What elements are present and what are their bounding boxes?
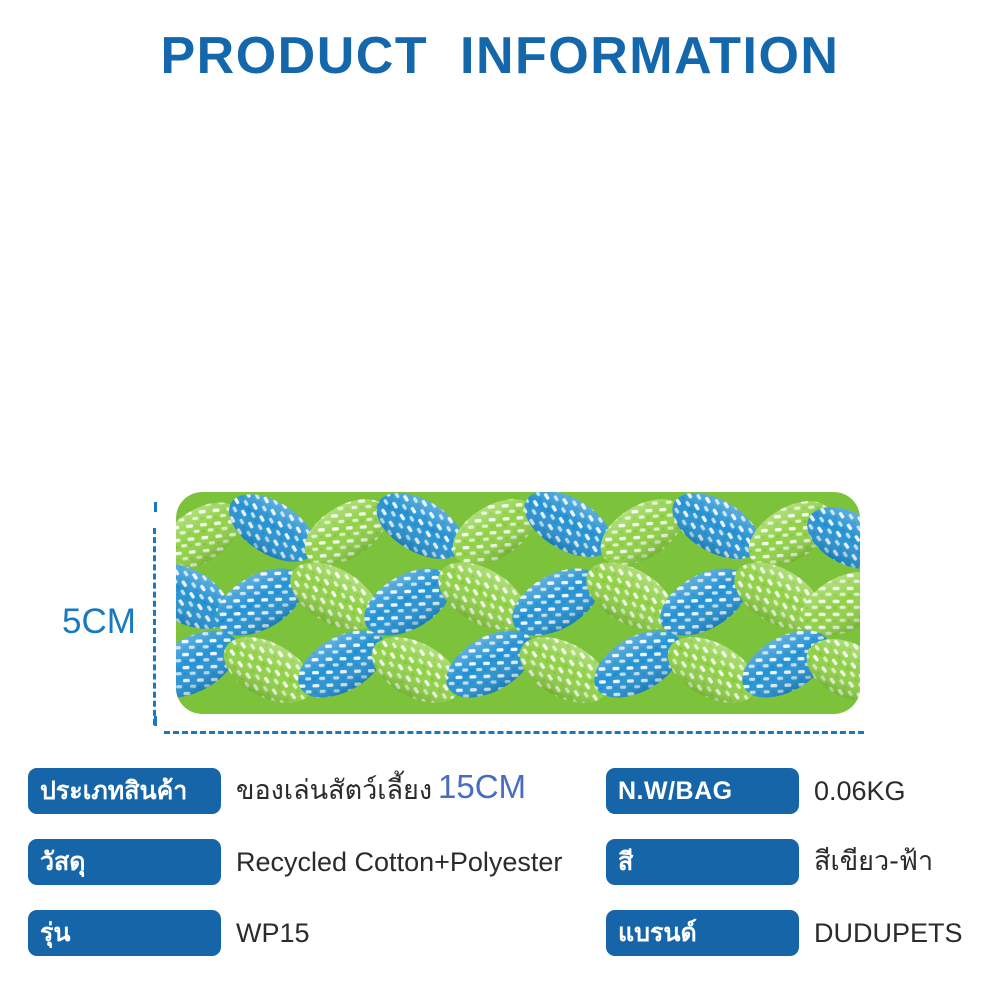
spec-value-product-type: ของเล่นสัตว์เลี้ยง — [236, 768, 432, 814]
spec-row-net-weight: N.W/BAG 0.06KG — [606, 768, 1000, 839]
spec-value-material: Recycled Cotton+Polyester — [236, 839, 562, 885]
spec-row-model: รุ่น WP15 — [28, 910, 498, 981]
spec-row-color: สี สีเขียว-ฟ้า — [606, 839, 1000, 910]
spec-column-right: N.W/BAG 0.06KG สี สีเขียว-ฟ้า แบรนด์ DUD… — [606, 768, 1000, 981]
dimension-line-width — [164, 731, 864, 734]
spec-value-brand: DUDUPETS — [814, 910, 963, 956]
spec-value-model: WP15 — [236, 910, 310, 956]
product-image-rope-toy — [176, 492, 860, 714]
spec-label-product-type: ประเภทสินค้า — [28, 768, 221, 814]
specification-table: ประเภทสินค้า ของเล่นสัตว์เลี้ยง วัสดุ Re… — [0, 768, 1000, 983]
spec-column-left: ประเภทสินค้า ของเล่นสัตว์เลี้ยง วัสดุ Re… — [28, 768, 498, 981]
spec-row-material: วัสดุ Recycled Cotton+Polyester — [28, 839, 498, 910]
dimension-tick-top — [154, 502, 157, 512]
spec-row-product-type: ประเภทสินค้า ของเล่นสัตว์เลี้ยง — [28, 768, 498, 839]
product-figure-area: 5CM 15CM — [0, 230, 1000, 590]
spec-value-net-weight: 0.06KG — [814, 768, 906, 814]
dimension-line-height — [153, 528, 156, 725]
dimension-tick-corner — [154, 716, 157, 726]
spec-label-model: รุ่น — [28, 910, 221, 956]
spec-label-net-weight: N.W/BAG — [606, 768, 799, 814]
dimension-label-height: 5CM — [62, 602, 136, 642]
spec-label-brand: แบรนด์ — [606, 910, 799, 956]
spec-label-material: วัสดุ — [28, 839, 221, 885]
spec-value-color: สีเขียว-ฟ้า — [814, 839, 933, 885]
page-title: PRODUCT INFORMATION — [0, 26, 1000, 86]
spec-label-color: สี — [606, 839, 799, 885]
spec-row-brand: แบรนด์ DUDUPETS — [606, 910, 1000, 981]
